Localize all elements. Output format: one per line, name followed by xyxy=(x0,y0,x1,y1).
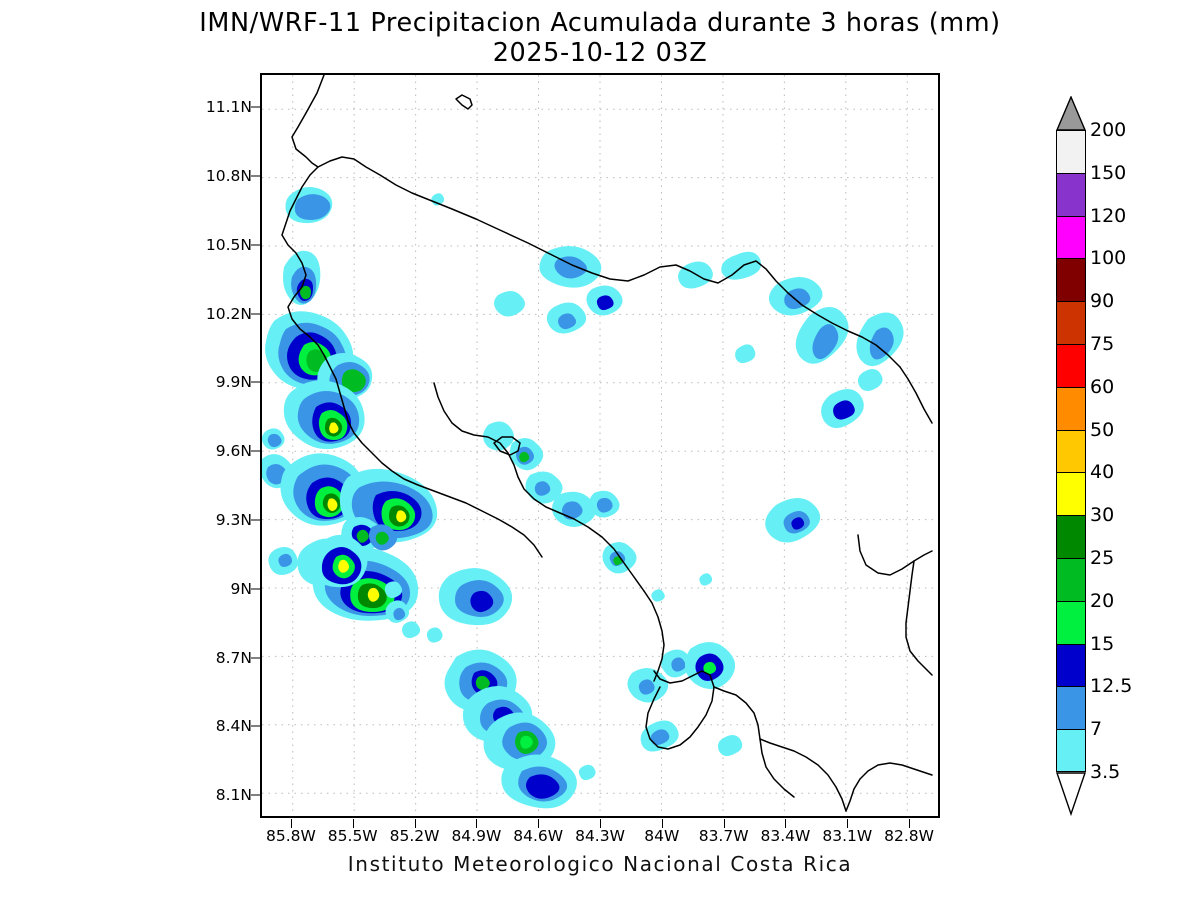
y-axis-tick-label: 9.9N xyxy=(0,373,252,391)
y-axis-tick-mark xyxy=(251,588,260,589)
colorbar-band xyxy=(1056,644,1086,687)
colorbar-band xyxy=(1056,258,1086,301)
precip-cell xyxy=(765,498,820,543)
x-axis-tick-mark xyxy=(724,819,725,828)
x-axis-tick-mark xyxy=(847,819,848,828)
map-canvas xyxy=(262,75,938,816)
x-axis-tick-label: 82.8W xyxy=(884,827,934,845)
precip-cell xyxy=(735,344,755,363)
colorbar-band xyxy=(1056,344,1086,387)
precip-cell xyxy=(547,302,586,333)
x-axis-tick-mark xyxy=(662,819,663,828)
colorbar-tick-label: 60 xyxy=(1090,376,1114,398)
coastline-paths xyxy=(282,75,932,811)
colorbar: 20015012010090756050403025201512.573.5 xyxy=(1056,96,1086,806)
colorbar-tick-label: 120 xyxy=(1090,205,1126,227)
y-axis-tick-label: 8.7N xyxy=(0,649,252,667)
colorbar-arrow-bottom xyxy=(1056,772,1086,816)
y-axis-tick-mark xyxy=(251,795,260,796)
colorbar-tick-label: 40 xyxy=(1090,461,1114,483)
y-axis-tick-mark xyxy=(251,520,260,521)
precipitation-map-figure: IMN/WRF-11 Precipitacion Acumulada duran… xyxy=(0,0,1200,900)
x-axis-tick-label: 85.2W xyxy=(390,827,440,845)
x-axis-tick-label: 84.6W xyxy=(513,827,563,845)
precip-cell xyxy=(552,492,596,527)
y-axis-tick-label: 9.3N xyxy=(0,511,252,529)
precip-cell xyxy=(678,261,713,288)
y-axis-tick-mark xyxy=(251,726,260,727)
y-axis-tick-label: 9.6N xyxy=(0,442,252,460)
x-axis-tick-mark xyxy=(909,819,910,828)
colorbar-band xyxy=(1056,558,1086,601)
precip-cell xyxy=(402,621,420,638)
colorbar-tick-label: 90 xyxy=(1090,290,1114,312)
colorbar-band xyxy=(1056,216,1086,259)
precip-cell xyxy=(427,627,443,642)
y-axis-tick-label: 8.1N xyxy=(0,786,252,804)
colorbar-tick-label: 20 xyxy=(1090,590,1114,612)
colorbar-tick-label: 12.5 xyxy=(1090,675,1132,697)
precip-cell xyxy=(721,252,761,280)
precip-cell xyxy=(858,369,883,391)
y-axis-tick-label: 10.2N xyxy=(0,305,252,323)
precip-cell xyxy=(439,568,512,625)
x-axis-tick-mark xyxy=(353,819,354,828)
precip-cell xyxy=(268,547,298,575)
colorbar-tick-label: 150 xyxy=(1090,162,1126,184)
x-axis-tick-label: 85.5W xyxy=(328,827,378,845)
colorbar-arrow-top xyxy=(1056,96,1086,130)
title-line-1: IMN/WRF-11 Precipitacion Acumulada duran… xyxy=(0,8,1200,38)
precip-cell xyxy=(651,589,664,601)
colorbar-tick-label: 3.5 xyxy=(1090,761,1120,783)
precip-cell xyxy=(718,735,742,756)
colorbar-band xyxy=(1056,387,1086,430)
y-axis-tick-mark xyxy=(251,313,260,314)
precip-cell xyxy=(685,642,735,689)
x-axis-tick-mark xyxy=(785,819,786,828)
colorbar-tick-label: 200 xyxy=(1090,119,1126,141)
y-axis-tick-mark xyxy=(251,382,260,383)
map-plot-area xyxy=(260,73,940,818)
colorbar-band xyxy=(1056,601,1086,644)
colorbar-tick-label: 50 xyxy=(1090,419,1114,441)
precip-cell xyxy=(539,246,601,288)
x-axis-tick-label: 83.4W xyxy=(761,827,811,845)
colorbar-band xyxy=(1056,515,1086,558)
y-axis-tick-mark xyxy=(251,657,260,658)
colorbar-band xyxy=(1056,130,1086,173)
y-axis-tick-label: 11.1N xyxy=(0,98,252,116)
x-axis-tick-mark xyxy=(600,819,601,828)
y-axis-tick-mark xyxy=(251,176,260,177)
colorbar-band xyxy=(1056,173,1086,216)
y-axis-tick-mark xyxy=(251,107,260,108)
title-line-2: 2025-10-12 03Z xyxy=(0,38,1200,68)
precip-cell xyxy=(579,765,596,780)
y-axis-tick-mark xyxy=(251,451,260,452)
precip-cell xyxy=(586,285,622,315)
x-axis-tick-label: 84.9W xyxy=(451,827,501,845)
precip-cell xyxy=(483,421,514,450)
colorbar-tick-label: 100 xyxy=(1090,247,1126,269)
x-axis-tick-mark xyxy=(538,819,539,828)
colorbar-band xyxy=(1056,729,1086,772)
x-axis-tick-label: 85.8W xyxy=(266,827,316,845)
y-axis-tick-label: 9N xyxy=(0,580,252,598)
gridlines xyxy=(262,75,938,816)
y-axis-tick-label: 10.5N xyxy=(0,236,252,254)
precip-cell xyxy=(283,251,320,305)
footer-caption: Instituto Meteorologico Nacional Costa R… xyxy=(0,852,1200,876)
precip-cell xyxy=(589,491,620,518)
colorbar-band xyxy=(1056,430,1086,473)
precip-cell xyxy=(821,389,864,428)
precip-cell xyxy=(856,312,903,366)
precipitation-contours xyxy=(262,187,904,808)
x-axis-tick-label: 83.1W xyxy=(822,827,872,845)
precip-cell xyxy=(627,668,668,703)
colorbar-tick-label: 75 xyxy=(1090,333,1114,355)
precip-cell xyxy=(494,291,525,317)
x-axis-tick-label: 83.7W xyxy=(699,827,749,845)
x-axis-tick-mark xyxy=(415,819,416,828)
y-axis-tick-mark xyxy=(251,244,260,245)
colorbar-tick-label: 25 xyxy=(1090,547,1114,569)
x-axis-tick-label: 84.3W xyxy=(575,827,625,845)
precip-cell xyxy=(699,573,712,585)
precip-cell xyxy=(796,307,849,364)
precip-cell xyxy=(501,754,577,808)
y-axis-tick-label: 10.8N xyxy=(0,167,252,185)
colorbar-band xyxy=(1056,301,1086,344)
y-axis-tick-label: 8.4N xyxy=(0,717,252,735)
colorbar-tick-label: 30 xyxy=(1090,504,1114,526)
x-axis-tick-mark xyxy=(291,819,292,828)
x-axis-tick-label: 84W xyxy=(644,827,679,845)
x-axis-tick-mark xyxy=(476,819,477,828)
colorbar-band xyxy=(1056,686,1086,729)
colorbar-tick-label: 15 xyxy=(1090,633,1114,655)
figure-title: IMN/WRF-11 Precipitacion Acumulada duran… xyxy=(0,8,1200,68)
colorbar-tick-label: 7 xyxy=(1090,718,1102,740)
colorbar-band xyxy=(1056,472,1086,515)
precip-cell xyxy=(262,428,285,449)
